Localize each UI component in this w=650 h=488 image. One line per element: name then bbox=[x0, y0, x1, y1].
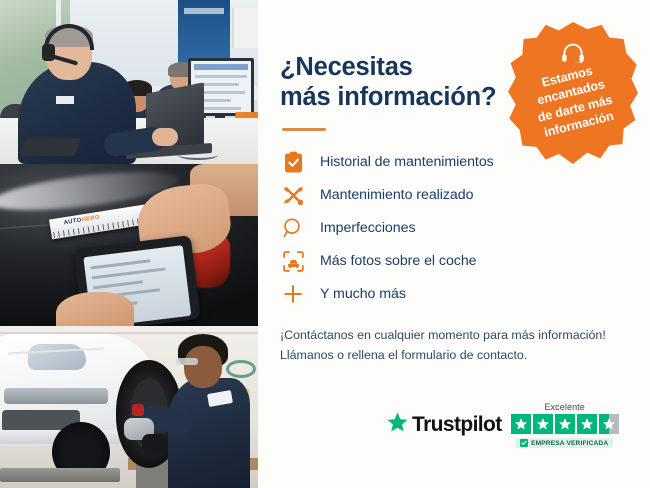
trustpilot-rating-label: Excelente bbox=[544, 402, 584, 412]
rating-star-filled bbox=[555, 414, 575, 434]
info-banner: AUTOHERO bbox=[0, 0, 650, 488]
verified-label: EMPRESA VERIFICADA bbox=[531, 440, 608, 447]
trustpilot-widget[interactable]: Trustpilot Excelente bbox=[386, 402, 619, 448]
check-icon bbox=[520, 439, 528, 447]
tablet-ui-line bbox=[91, 259, 151, 269]
trustpilot-star-icon bbox=[386, 411, 409, 439]
technician-glove-right bbox=[142, 434, 168, 454]
desk-cable bbox=[178, 150, 218, 160]
feature-label: Mantenimiento realizado bbox=[320, 187, 473, 203]
monitor-ui-bar bbox=[194, 64, 248, 70]
call-center-agent-photo bbox=[0, 0, 258, 164]
plus-icon bbox=[280, 281, 306, 307]
technician-wheel-photo bbox=[0, 326, 258, 488]
feature-label: Imperfecciones bbox=[320, 220, 416, 236]
status-badge: Estamos encantados de darte más informac… bbox=[508, 22, 638, 164]
hand-tool bbox=[132, 404, 144, 416]
technician-head bbox=[184, 346, 222, 388]
car-grille-upper bbox=[4, 388, 108, 404]
inspector-hand-holding-tablet bbox=[56, 292, 134, 326]
ruler-brand-part-one: AUTO bbox=[63, 218, 82, 227]
title-divider bbox=[282, 128, 326, 131]
clipboard-check-icon bbox=[280, 149, 306, 175]
banner-content: ¿Necesitas más información? Historial de… bbox=[258, 0, 650, 488]
feature-label: Historial de mantenimientos bbox=[320, 154, 494, 170]
monitor-ui-line bbox=[195, 75, 247, 78]
feature-label: Y mucho más bbox=[320, 286, 406, 302]
car-photo-frame-icon bbox=[280, 248, 306, 274]
tablet-ui-line bbox=[93, 280, 143, 289]
photo-collage: AUTOHERO bbox=[0, 0, 258, 488]
agent-hand bbox=[152, 128, 178, 146]
magnifier-icon bbox=[280, 215, 306, 241]
feature-list: Historial de mantenimientos M bbox=[280, 146, 622, 310]
trustpilot-star-rating bbox=[511, 414, 619, 434]
feature-item-much-more: Y mucho más bbox=[280, 278, 622, 310]
feature-item-imperfections: Imperfecciones bbox=[280, 212, 622, 244]
trustpilot-logo: Trustpilot bbox=[386, 411, 502, 439]
autohero-ruler-inspection-photo: AUTOHERO bbox=[0, 164, 258, 326]
coiled-hose bbox=[226, 360, 256, 378]
feature-item-more-photos: Más fotos sobre el coche bbox=[280, 245, 622, 277]
trustpilot-wordmark: Trustpilot bbox=[412, 413, 502, 437]
desk-tablet bbox=[19, 138, 82, 156]
tablet-ui-line bbox=[92, 267, 166, 279]
ruler-brand-part-two: HERO bbox=[81, 215, 100, 224]
feature-item-maintenance-done: Mantenimiento realizado bbox=[280, 179, 622, 211]
feature-label: Más fotos sobre el coche bbox=[320, 253, 477, 269]
technician-safety-glasses bbox=[176, 358, 198, 365]
rating-star-filled bbox=[577, 414, 597, 434]
rating-star-filled bbox=[533, 414, 553, 434]
trustpilot-rating-block: Excelente bbox=[511, 402, 619, 448]
wrench-screwdriver-icon bbox=[280, 182, 306, 208]
wall-shelf bbox=[232, 8, 258, 48]
agent-name-tag bbox=[56, 96, 74, 104]
rating-star-half bbox=[599, 414, 619, 434]
blue-wall-panel bbox=[178, 0, 230, 66]
rating-star-filled bbox=[511, 414, 531, 434]
verified-business-badge: EMPRESA VERIFICADA bbox=[516, 438, 613, 448]
car-lift-ramp bbox=[0, 468, 120, 482]
contact-paragraph: ¡Contáctanos en cualquier momento para m… bbox=[280, 325, 622, 365]
